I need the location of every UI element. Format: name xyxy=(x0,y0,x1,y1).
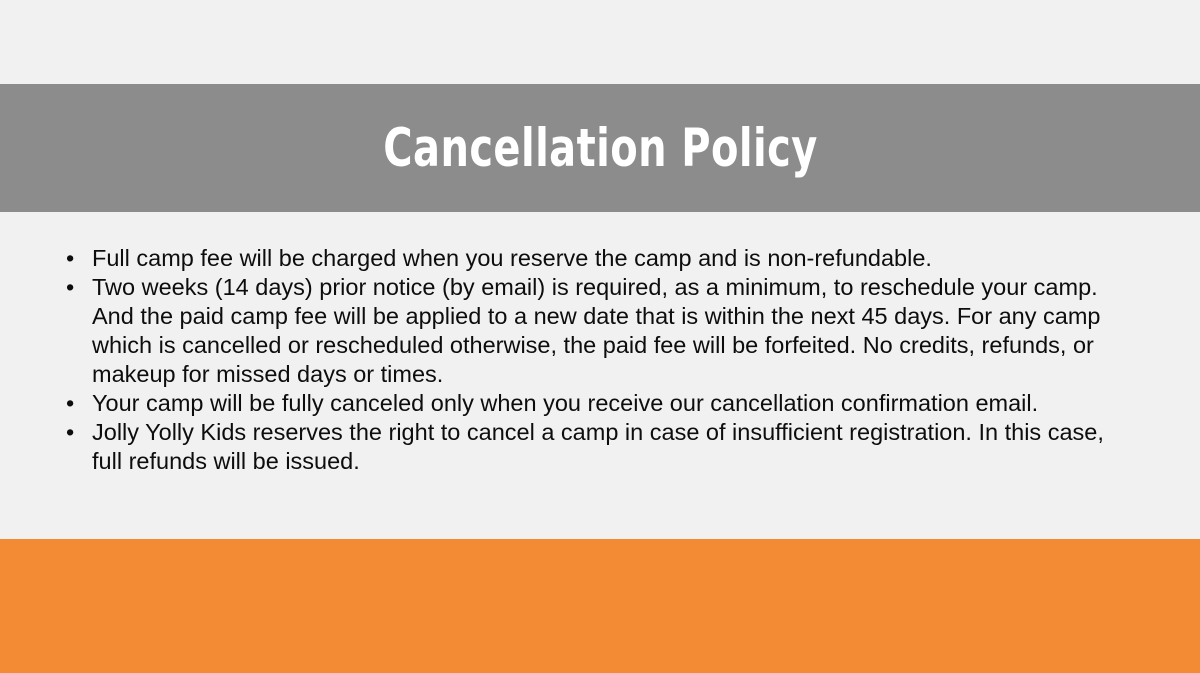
list-item-text: Two weeks (14 days) prior notice (by ema… xyxy=(92,274,1100,387)
list-item: • Jolly Yolly Kids reserves the right to… xyxy=(40,418,1160,476)
bullet-dot-icon: • xyxy=(66,273,80,302)
title-band: Cancellation Policy xyxy=(0,84,1200,212)
slide: Cancellation Policy • Full camp fee will… xyxy=(0,0,1200,673)
bullet-dot-icon: • xyxy=(66,418,80,447)
list-item: • Full camp fee will be charged when you… xyxy=(40,244,1160,273)
bullet-dot-icon: • xyxy=(66,389,80,418)
list-item: • Two weeks (14 days) prior notice (by e… xyxy=(40,273,1160,389)
policy-bullet-list: • Full camp fee will be charged when you… xyxy=(40,244,1160,476)
list-item-text: Jolly Yolly Kids reserves the right to c… xyxy=(92,419,1104,474)
list-item: • Your camp will be fully canceled only … xyxy=(40,389,1160,418)
bullet-dot-icon: • xyxy=(66,244,80,273)
list-item-text: Your camp will be fully canceled only wh… xyxy=(92,390,1038,416)
page-title: Cancellation Policy xyxy=(383,122,817,175)
list-item-text: Full camp fee will be charged when you r… xyxy=(92,245,932,271)
body-content: • Full camp fee will be charged when you… xyxy=(0,212,1200,539)
footer-band xyxy=(0,539,1200,673)
